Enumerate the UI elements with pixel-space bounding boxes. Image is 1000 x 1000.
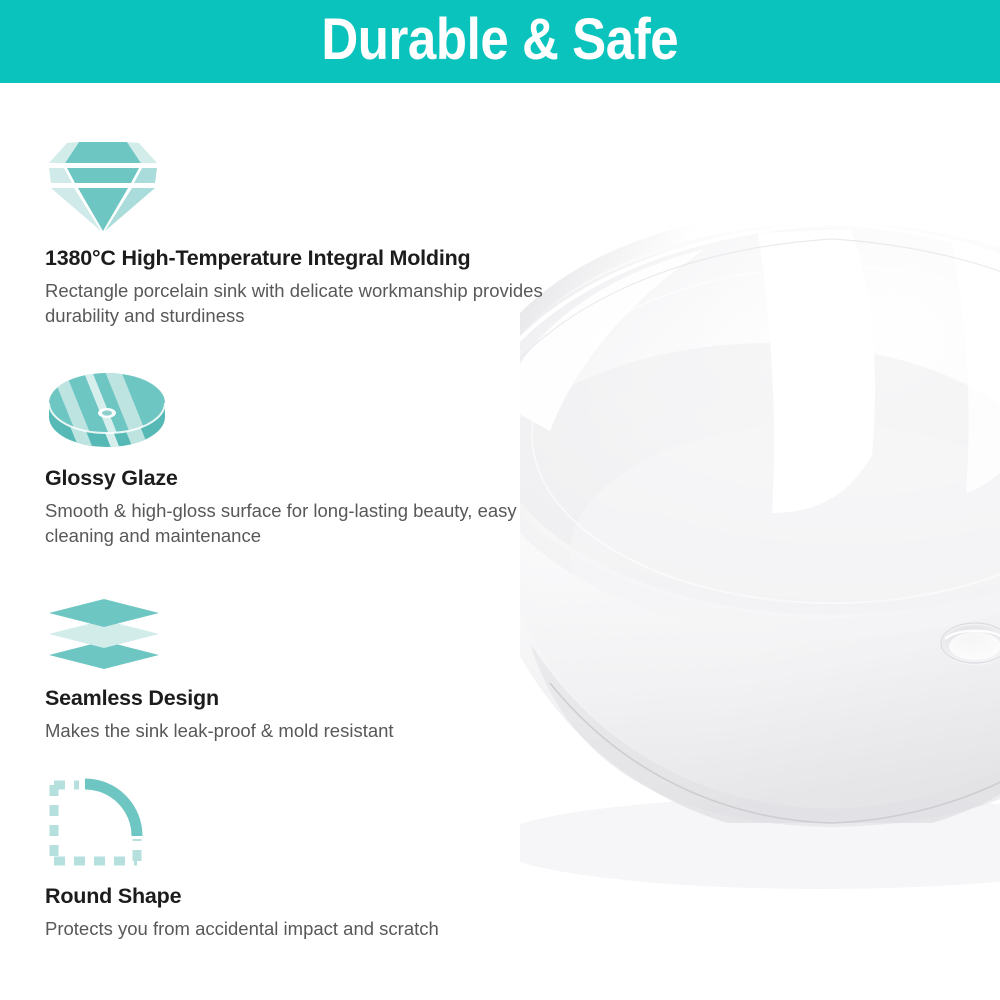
feature-title: Round Shape xyxy=(45,884,439,910)
feature-description: Makes the sink leak-proof & mold resista… xyxy=(45,718,394,744)
feature-item-high-temperature-molding: 1380°C High-Temperature Integral Molding… xyxy=(45,135,575,329)
header-banner: Durable & Safe xyxy=(0,0,1000,83)
glossy-basin-icon xyxy=(45,369,575,458)
feature-title: 1380°C High-Temperature Integral Molding xyxy=(45,246,575,272)
page-title: Durable & Safe xyxy=(322,11,679,69)
feature-description: Protects you from accidental impact and … xyxy=(45,916,439,942)
feature-item-glossy-glaze: Glossy Glaze Smooth & high-gloss surface… xyxy=(45,369,575,549)
diamond-icon xyxy=(45,135,575,238)
feature-list: 1380°C High-Temperature Integral Molding… xyxy=(0,83,600,1000)
feature-title: Seamless Design xyxy=(45,686,394,712)
layers-icon xyxy=(45,595,394,678)
feature-description: Smooth & high-gloss surface for long-las… xyxy=(45,498,575,549)
feature-item-seamless-design: Seamless Design Makes the sink leak-proo… xyxy=(45,595,394,743)
feature-item-round-shape: Round Shape Protects you from accidental… xyxy=(45,775,439,941)
feature-title: Glossy Glaze xyxy=(45,466,575,492)
feature-description: Rectangle porcelain sink with delicate w… xyxy=(45,278,575,329)
rounded-corner-icon xyxy=(45,775,439,876)
